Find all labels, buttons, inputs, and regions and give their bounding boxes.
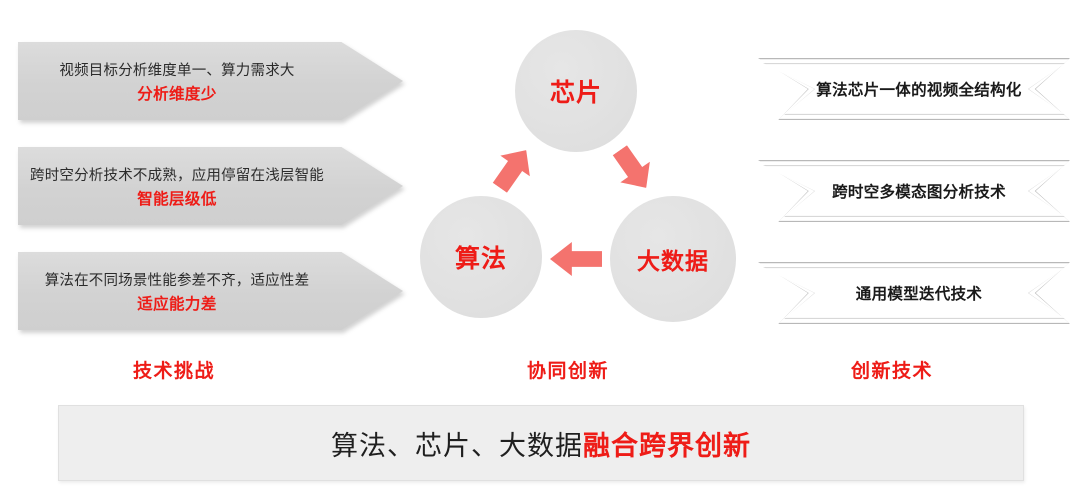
challenge-banner-2-text: 跨时空分析技术不成熟，应用停留在浅层智能 智能层级低	[18, 147, 336, 225]
cycle-arrow-bigdata-to-algorithm-icon	[550, 242, 602, 276]
cycle-arrow-algorithm-to-chip-icon	[485, 140, 541, 198]
technology-banner-1-label: 算法芯片一体的视频全结构化	[758, 58, 1070, 120]
challenge-banner-1[interactable]: 视频目标分析维度单一、算力需求大 分析维度少	[18, 42, 403, 120]
technology-banner-3-label: 通用模型迭代技术	[758, 262, 1070, 324]
challenge-highlight: 智能层级低	[137, 187, 217, 209]
cycle-node-algorithm[interactable]: 算法	[420, 196, 542, 318]
cycle-node-chip[interactable]: 芯片	[515, 30, 637, 152]
challenge-description: 视频目标分析维度单一、算力需求大	[59, 59, 294, 80]
challenge-description: 跨时空分析技术不成熟，应用停留在浅层智能	[30, 164, 324, 185]
innovative-technologies-column: 算法芯片一体的视频全结构化 跨时空多模态图分析技术 通用模型迭代技术	[758, 58, 1070, 364]
technology-banner-1[interactable]: 算法芯片一体的视频全结构化	[758, 58, 1070, 120]
challenge-banner-2[interactable]: 跨时空分析技术不成熟，应用停留在浅层智能 智能层级低	[18, 147, 403, 225]
section-label-collaborative-innovation: 协同创新	[527, 356, 609, 383]
cycle-arrow-chip-to-bigdata-icon	[605, 140, 661, 198]
section-label-innovative-technology: 创新技术	[851, 356, 933, 383]
technology-banner-3[interactable]: 通用模型迭代技术	[758, 262, 1070, 324]
technology-banner-2[interactable]: 跨时空多模态图分析技术	[758, 160, 1070, 222]
summary-banner: 算法、芯片、大数据融合跨界创新	[58, 405, 1024, 481]
summary-text-primary: 算法、芯片、大数据	[331, 424, 583, 463]
technology-banner-2-label: 跨时空多模态图分析技术	[758, 160, 1070, 222]
summary-text-highlight: 融合跨界创新	[583, 424, 751, 463]
challenge-description: 算法在不同场景性能参差不齐，适应性差	[45, 269, 310, 290]
challenge-banner-3[interactable]: 算法在不同场景性能参差不齐，适应性差 适应能力差	[18, 252, 403, 330]
synergy-cycle-diagram: 芯片 算法 大数据	[410, 20, 750, 340]
challenge-highlight: 适应能力差	[137, 292, 217, 314]
challenge-banner-3-text: 算法在不同场景性能参差不齐，适应性差 适应能力差	[18, 252, 336, 330]
section-label-technical-challenges: 技术挑战	[133, 356, 215, 383]
challenge-banner-1-text: 视频目标分析维度单一、算力需求大 分析维度少	[18, 42, 336, 120]
slide-canvas: 视频目标分析维度单一、算力需求大 分析维度少 跨时空分析技术不成熟，应用停留在浅…	[0, 0, 1080, 499]
challenge-highlight: 分析维度少	[137, 82, 217, 104]
technical-challenges-column: 视频目标分析维度单一、算力需求大 分析维度少 跨时空分析技术不成熟，应用停留在浅…	[18, 42, 403, 357]
cycle-node-bigdata[interactable]: 大数据	[610, 196, 736, 322]
